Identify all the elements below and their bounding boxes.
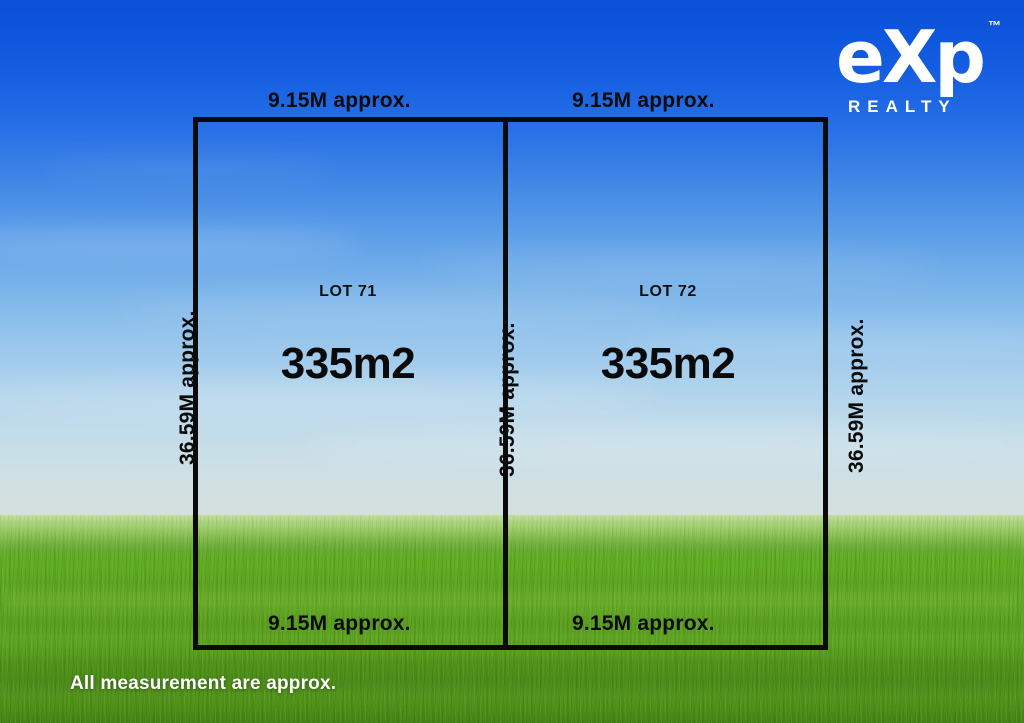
dimension-label-right-side: 36.59M approx. — [845, 318, 869, 473]
boundary-line-top — [193, 117, 828, 122]
dimension-label-top-lot71: 9.15M approx. — [268, 89, 411, 113]
exp-realty-logo: eXp REALTY ™ — [836, 18, 1012, 118]
dimension-label-middle-divider: 36.59M approx. — [496, 322, 520, 477]
disclaimer-text: All measurement are approx. — [70, 673, 336, 695]
dimension-label-bottom-lot72: 9.15M approx. — [572, 612, 715, 636]
boundary-line-bottom — [193, 645, 828, 650]
lot-area-71: 335m2 — [248, 339, 448, 389]
lot-name-72: LOT 72 — [568, 283, 768, 301]
boundary-line-right — [823, 117, 828, 650]
dimension-label-top-lot72: 9.15M approx. — [572, 89, 715, 113]
land-subdivision-graphic: 9.15M approx. 9.15M approx. 9.15M approx… — [0, 0, 1024, 723]
dimension-label-left-side: 36.59M approx. — [176, 310, 200, 465]
trademark-icon: ™ — [988, 18, 1001, 33]
dimension-label-bottom-lot71: 9.15M approx. — [268, 612, 411, 636]
logo-wordmark-text: eXp — [836, 18, 983, 96]
logo-subtitle-text: REALTY — [848, 98, 957, 116]
lot-area-72: 335m2 — [568, 339, 768, 389]
lot-name-71: LOT 71 — [248, 283, 448, 301]
